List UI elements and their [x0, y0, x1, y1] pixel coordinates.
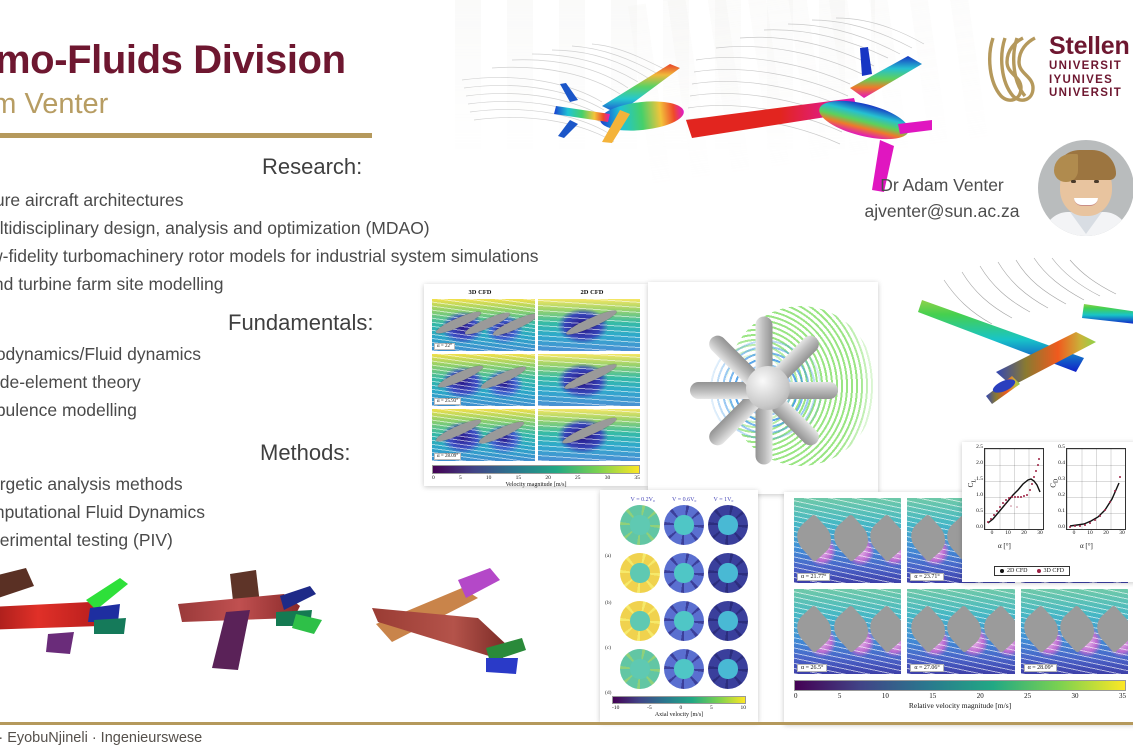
- rotor-disc: [664, 649, 704, 689]
- alpha-tag: α = 22°: [434, 343, 455, 350]
- tick: 2.5: [976, 444, 983, 450]
- tick: 1.0: [976, 492, 983, 498]
- rotor-disc: [620, 505, 660, 545]
- section-heading-research: Research:: [262, 154, 362, 180]
- su-line-1: UNIVERSIT: [1049, 60, 1130, 74]
- plot-row: CL 2.5 2.0 1.5 1.0 0.5 0.0: [962, 442, 1133, 530]
- page-subtitle: dam Venter: [0, 88, 108, 121]
- legend-entry-3d: 3D CFD: [1037, 568, 1065, 574]
- tick: 0: [432, 475, 435, 481]
- tick: 15: [516, 475, 522, 481]
- list-item: ergetic analysis methods: [0, 470, 205, 498]
- fundamentals-bullets: rodynamics/Fluid dynamics ade-element th…: [0, 340, 201, 424]
- rotor-disc: [664, 505, 704, 545]
- cfd-panel: α = 28.09°: [432, 409, 535, 461]
- tick: 25: [575, 475, 581, 481]
- tick: 15: [929, 692, 936, 700]
- rotor-disc: [708, 601, 748, 641]
- tick: 0.5: [976, 508, 983, 514]
- polar-row-label: (c): [605, 645, 611, 651]
- list-item: perimental testing (PIV): [0, 526, 205, 554]
- legend-marker-2d: [1000, 569, 1004, 573]
- tick: 0.1: [1058, 508, 1065, 514]
- legend-marker-3d: [1037, 569, 1041, 573]
- tick: 30: [605, 475, 611, 481]
- tick: 5: [838, 692, 842, 700]
- chart-legend: 2D CFD 3D CFD: [994, 566, 1070, 576]
- su-name: Stellen: [1049, 32, 1130, 60]
- aircraft-model-2: [176, 568, 336, 688]
- colorbar-ticks: 0 5 10 15 20 25 30 35: [794, 691, 1126, 700]
- stellenbosch-university-wordmark: Stellen UNIVERSIT IYUNIVES UNIVERSIT: [1049, 32, 1130, 101]
- tick: 20: [1021, 530, 1027, 536]
- alpha-tag: α = 26.5°: [797, 664, 827, 672]
- tick: 0: [1073, 530, 1076, 536]
- colorbar: [432, 465, 640, 474]
- alpha-tag: α = 25.93°: [434, 398, 461, 405]
- footer-text: eering · EyobuNjineli · Ingenieurswese: [0, 730, 202, 746]
- su-line-2: IYUNIVES: [1049, 74, 1130, 88]
- tick: -10: [612, 705, 619, 711]
- research-bullets: ture aircraft architectures ultidiscipli…: [0, 186, 539, 298]
- x-axis-label-cd: α [°]: [1080, 542, 1093, 550]
- contact-email[interactable]: ajventer@sun.ac.za: [852, 198, 1032, 224]
- tick: 30: [1037, 530, 1043, 536]
- fan-hub: [746, 366, 790, 410]
- tick: 0: [991, 530, 994, 536]
- figure-rotor-axial-velocity-grid: V = 0.2V₀ V = 0.6V₀ V = 1V₀ (a) (b) (c) …: [600, 490, 758, 722]
- polar-column-headers: V = 0.2V₀ V = 0.6V₀ V = 1V₀: [600, 490, 758, 505]
- avatar-eye-left: [1071, 180, 1076, 183]
- alpha-tag: α = 27.06°: [910, 664, 943, 672]
- section-heading-methods: Methods:: [260, 440, 351, 466]
- alpha-tag: α = 21.77°: [797, 573, 830, 581]
- cfd-panel-grid: α = 22° α = 25.93° α = 28.09°: [424, 296, 648, 461]
- tick: 0: [794, 692, 798, 700]
- y-ticks-cl: 2.5 2.0 1.5 1.0 0.5 0.0: [969, 444, 983, 528]
- cfd-panel: α = 22°: [432, 299, 535, 351]
- colorbar-block: -10 -5 0 5 10 Axial velocity [m/s]: [600, 696, 758, 718]
- tick: 0.3: [1058, 476, 1065, 482]
- tick: 20: [545, 475, 551, 481]
- polar-header-3: V = 1V₀: [713, 497, 733, 503]
- chart-cd: CD 0.5 0.4 0.3 0.2 0.1 0.0: [1050, 448, 1126, 530]
- avatar-eye-right: [1094, 180, 1099, 183]
- alpha-tag: α = 28.09°: [434, 453, 461, 460]
- tick: 0: [679, 705, 682, 711]
- cfd-header-3d: 3D CFD: [469, 289, 492, 296]
- tick: 0.5: [1058, 444, 1065, 450]
- list-item: w-fidelity turbomachinery rotor models f…: [0, 242, 539, 270]
- contact-name: Dr Adam Venter: [852, 172, 1032, 198]
- section-heading-fundamentals: Fundamentals:: [228, 310, 374, 336]
- rotor-disc: [664, 601, 704, 641]
- glider-cfd-render: [900, 246, 1133, 416]
- rotor-disc: [708, 553, 748, 593]
- figure-cfd-3d-vs-2d: 3D CFD 2D CFD α = 22° α = 25.93°: [424, 284, 648, 486]
- list-item: rbulence modelling: [0, 396, 201, 424]
- colorbar-ticks: -10 -5 0 5 10: [612, 704, 746, 711]
- rotor-disc: [620, 553, 660, 593]
- legend-label-3d: 3D CFD: [1044, 568, 1065, 574]
- polar-header-1: V = 0.2V₀: [630, 497, 655, 503]
- tick: 10: [1087, 530, 1093, 536]
- colorbar-label: Velocity magnitude [m/s]: [432, 481, 640, 488]
- tick: 0.0: [1058, 524, 1065, 530]
- list-item: rodynamics/Fluid dynamics: [0, 340, 201, 368]
- plot-area-cl: [984, 448, 1044, 530]
- su-line-3: UNIVERSIT: [1049, 87, 1130, 101]
- tick: 5: [710, 705, 713, 711]
- colorbar: [794, 680, 1126, 691]
- rotor-disc: [620, 601, 660, 641]
- tick: 0.0: [976, 524, 983, 530]
- methods-bullets: ergetic analysis methods mputational Flu…: [0, 470, 205, 554]
- cfd-column-headers: 3D CFD 2D CFD: [424, 284, 648, 296]
- alpha-tag: α = 23.71°: [910, 573, 943, 581]
- footer-divider: [0, 722, 1133, 725]
- page-title: ermo-Fluids Division: [0, 38, 346, 83]
- tick: 2.0: [976, 460, 983, 466]
- figure-axial-fan-cfd: [648, 282, 878, 494]
- tick: 20: [977, 692, 984, 700]
- rotor-disc: [664, 553, 704, 593]
- cfd-panel: [538, 354, 641, 406]
- colorbar-block: 0 5 10 15 20 25 30 35 Relative velocity …: [784, 674, 1133, 710]
- tick: 5: [459, 475, 462, 481]
- tick: 25: [1024, 692, 1031, 700]
- rotor-disc: [708, 505, 748, 545]
- title-divider: [0, 133, 372, 138]
- legend-entry-2d: 2D CFD: [1000, 568, 1028, 574]
- chart-cl: CL 2.5 2.0 1.5 1.0 0.5 0.0: [968, 448, 1044, 530]
- cfd-panel: α = 27.06°: [907, 589, 1014, 674]
- tick: 10: [486, 475, 492, 481]
- polar-row-label: (b): [605, 600, 611, 606]
- cfd-panel: α = 25.93°: [432, 354, 535, 406]
- aircraft-model-3: [366, 562, 546, 692]
- x-axis-label-cl: α [°]: [998, 542, 1011, 550]
- y-ticks-cd: 0.5 0.4 0.3 0.2 0.1 0.0: [1051, 444, 1065, 528]
- tick: 35: [634, 475, 640, 481]
- avatar-hair-fringe: [1054, 154, 1078, 182]
- stellenbosch-university-logo-icon: [985, 30, 1043, 108]
- slide-canvas: ermo-Fluids Division dam Venter Stellen …: [0, 0, 1133, 753]
- contact-block: Dr Adam Venter ajventer@sun.ac.za: [852, 172, 1032, 224]
- tick: 10: [882, 692, 889, 700]
- tick: 20: [1103, 530, 1109, 536]
- list-item: mputational Fluid Dynamics: [0, 498, 205, 526]
- polar-grid: [600, 505, 758, 693]
- rotor-disc: [620, 649, 660, 689]
- colorbar-ticks: 0 5 10 15 20 25 30 35: [432, 474, 640, 481]
- fan-stage: [648, 282, 878, 494]
- rotor-disc: [708, 649, 748, 689]
- cfd-panel: α = 21.77°: [794, 498, 901, 583]
- tick: 0.2: [1058, 492, 1065, 498]
- cfd-panel: [538, 299, 641, 351]
- aircraft-model-1: [0, 560, 140, 680]
- cfd-panel: α = 26.5°: [794, 589, 901, 674]
- colorbar-block: 0 5 10 15 20 25 30 35 Velocity magnitude…: [424, 461, 648, 488]
- figure-lift-drag-polars: CL 2.5 2.0 1.5 1.0 0.5 0.0: [962, 442, 1133, 582]
- list-item: ture aircraft architectures: [0, 186, 539, 214]
- polar-header-2: V = 0.6V₀: [672, 497, 697, 503]
- tick: 10: [741, 705, 747, 711]
- colorbar: [612, 696, 746, 704]
- cfd-panel: α = 28.09°: [1021, 589, 1128, 674]
- cfd-header-2d: 2D CFD: [581, 289, 604, 296]
- tick: 30: [1072, 692, 1079, 700]
- colorbar-label: Relative velocity magnitude [m/s]: [794, 700, 1126, 710]
- alpha-tag: α = 28.09°: [1024, 664, 1057, 672]
- tick: 0.4: [1058, 460, 1065, 466]
- legend-label-2d: 2D CFD: [1007, 568, 1028, 574]
- list-item: ade-element theory: [0, 368, 201, 396]
- tick: 10: [1005, 530, 1011, 536]
- tick: -5: [647, 705, 652, 711]
- tick: 35: [1119, 692, 1126, 700]
- cfd-panel: [538, 409, 641, 461]
- colorbar-label: Axial velocity [m/s]: [612, 711, 746, 718]
- tick: 1.5: [976, 476, 983, 482]
- polar-row-label: (a): [605, 553, 611, 559]
- list-item: ultidisciplinary design, analysis and op…: [0, 214, 539, 242]
- plot-area-cd: [1066, 448, 1126, 530]
- tick: 30: [1119, 530, 1125, 536]
- avatar: [1038, 140, 1133, 236]
